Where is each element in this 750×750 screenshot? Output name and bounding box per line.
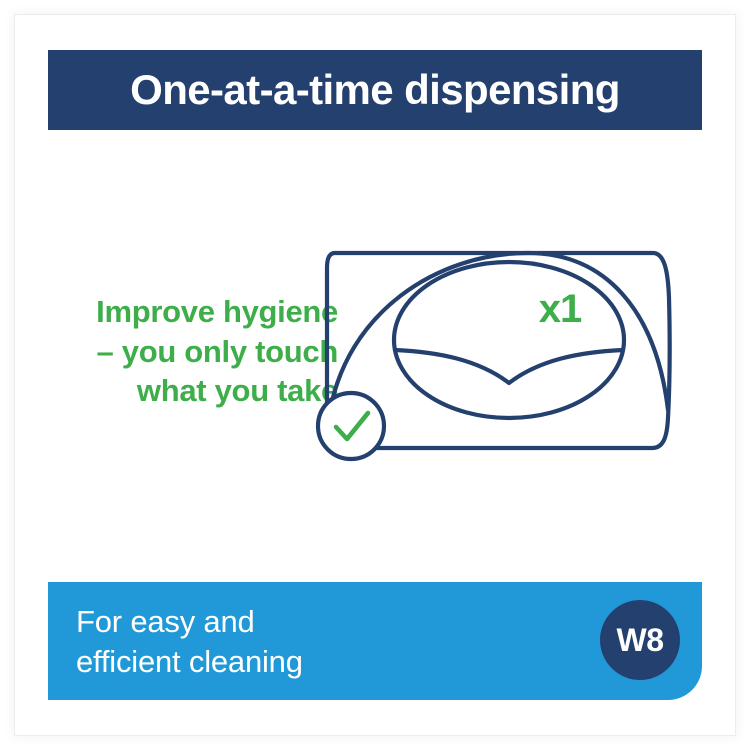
footer-line-1: For easy and: [76, 602, 303, 642]
pack-flap-arc: [329, 253, 668, 417]
benefit-line-3: what you take: [48, 371, 338, 411]
footer-banner: For easy and efficient cleaning W8: [48, 582, 702, 700]
benefit-line-2: – you only touch: [48, 332, 338, 372]
dispense-count-label: x1: [505, 289, 615, 329]
product-feature-card: One-at-a-time dispensing Improve hygiene…: [0, 0, 750, 750]
footer-line-2: efficient cleaning: [76, 642, 303, 682]
wipe-sheet: [395, 350, 623, 383]
page-title: One-at-a-time dispensing: [130, 69, 620, 111]
benefit-line-1: Improve hygiene: [48, 292, 338, 332]
product-code-badge: W8: [600, 600, 680, 680]
dispensing-opening: [394, 262, 624, 418]
dispenser-drawing: [323, 240, 702, 500]
benefit-text: Improve hygiene – you only touch what yo…: [48, 292, 338, 411]
product-code-label: W8: [617, 624, 664, 656]
footer-text: For easy and efficient cleaning: [76, 602, 303, 681]
wipes-dispenser-illustration: x1: [323, 240, 702, 500]
header-banner: One-at-a-time dispensing: [48, 50, 702, 130]
main-content: Improve hygiene – you only touch what yo…: [48, 130, 702, 582]
check-circle-badge: [318, 393, 384, 459]
